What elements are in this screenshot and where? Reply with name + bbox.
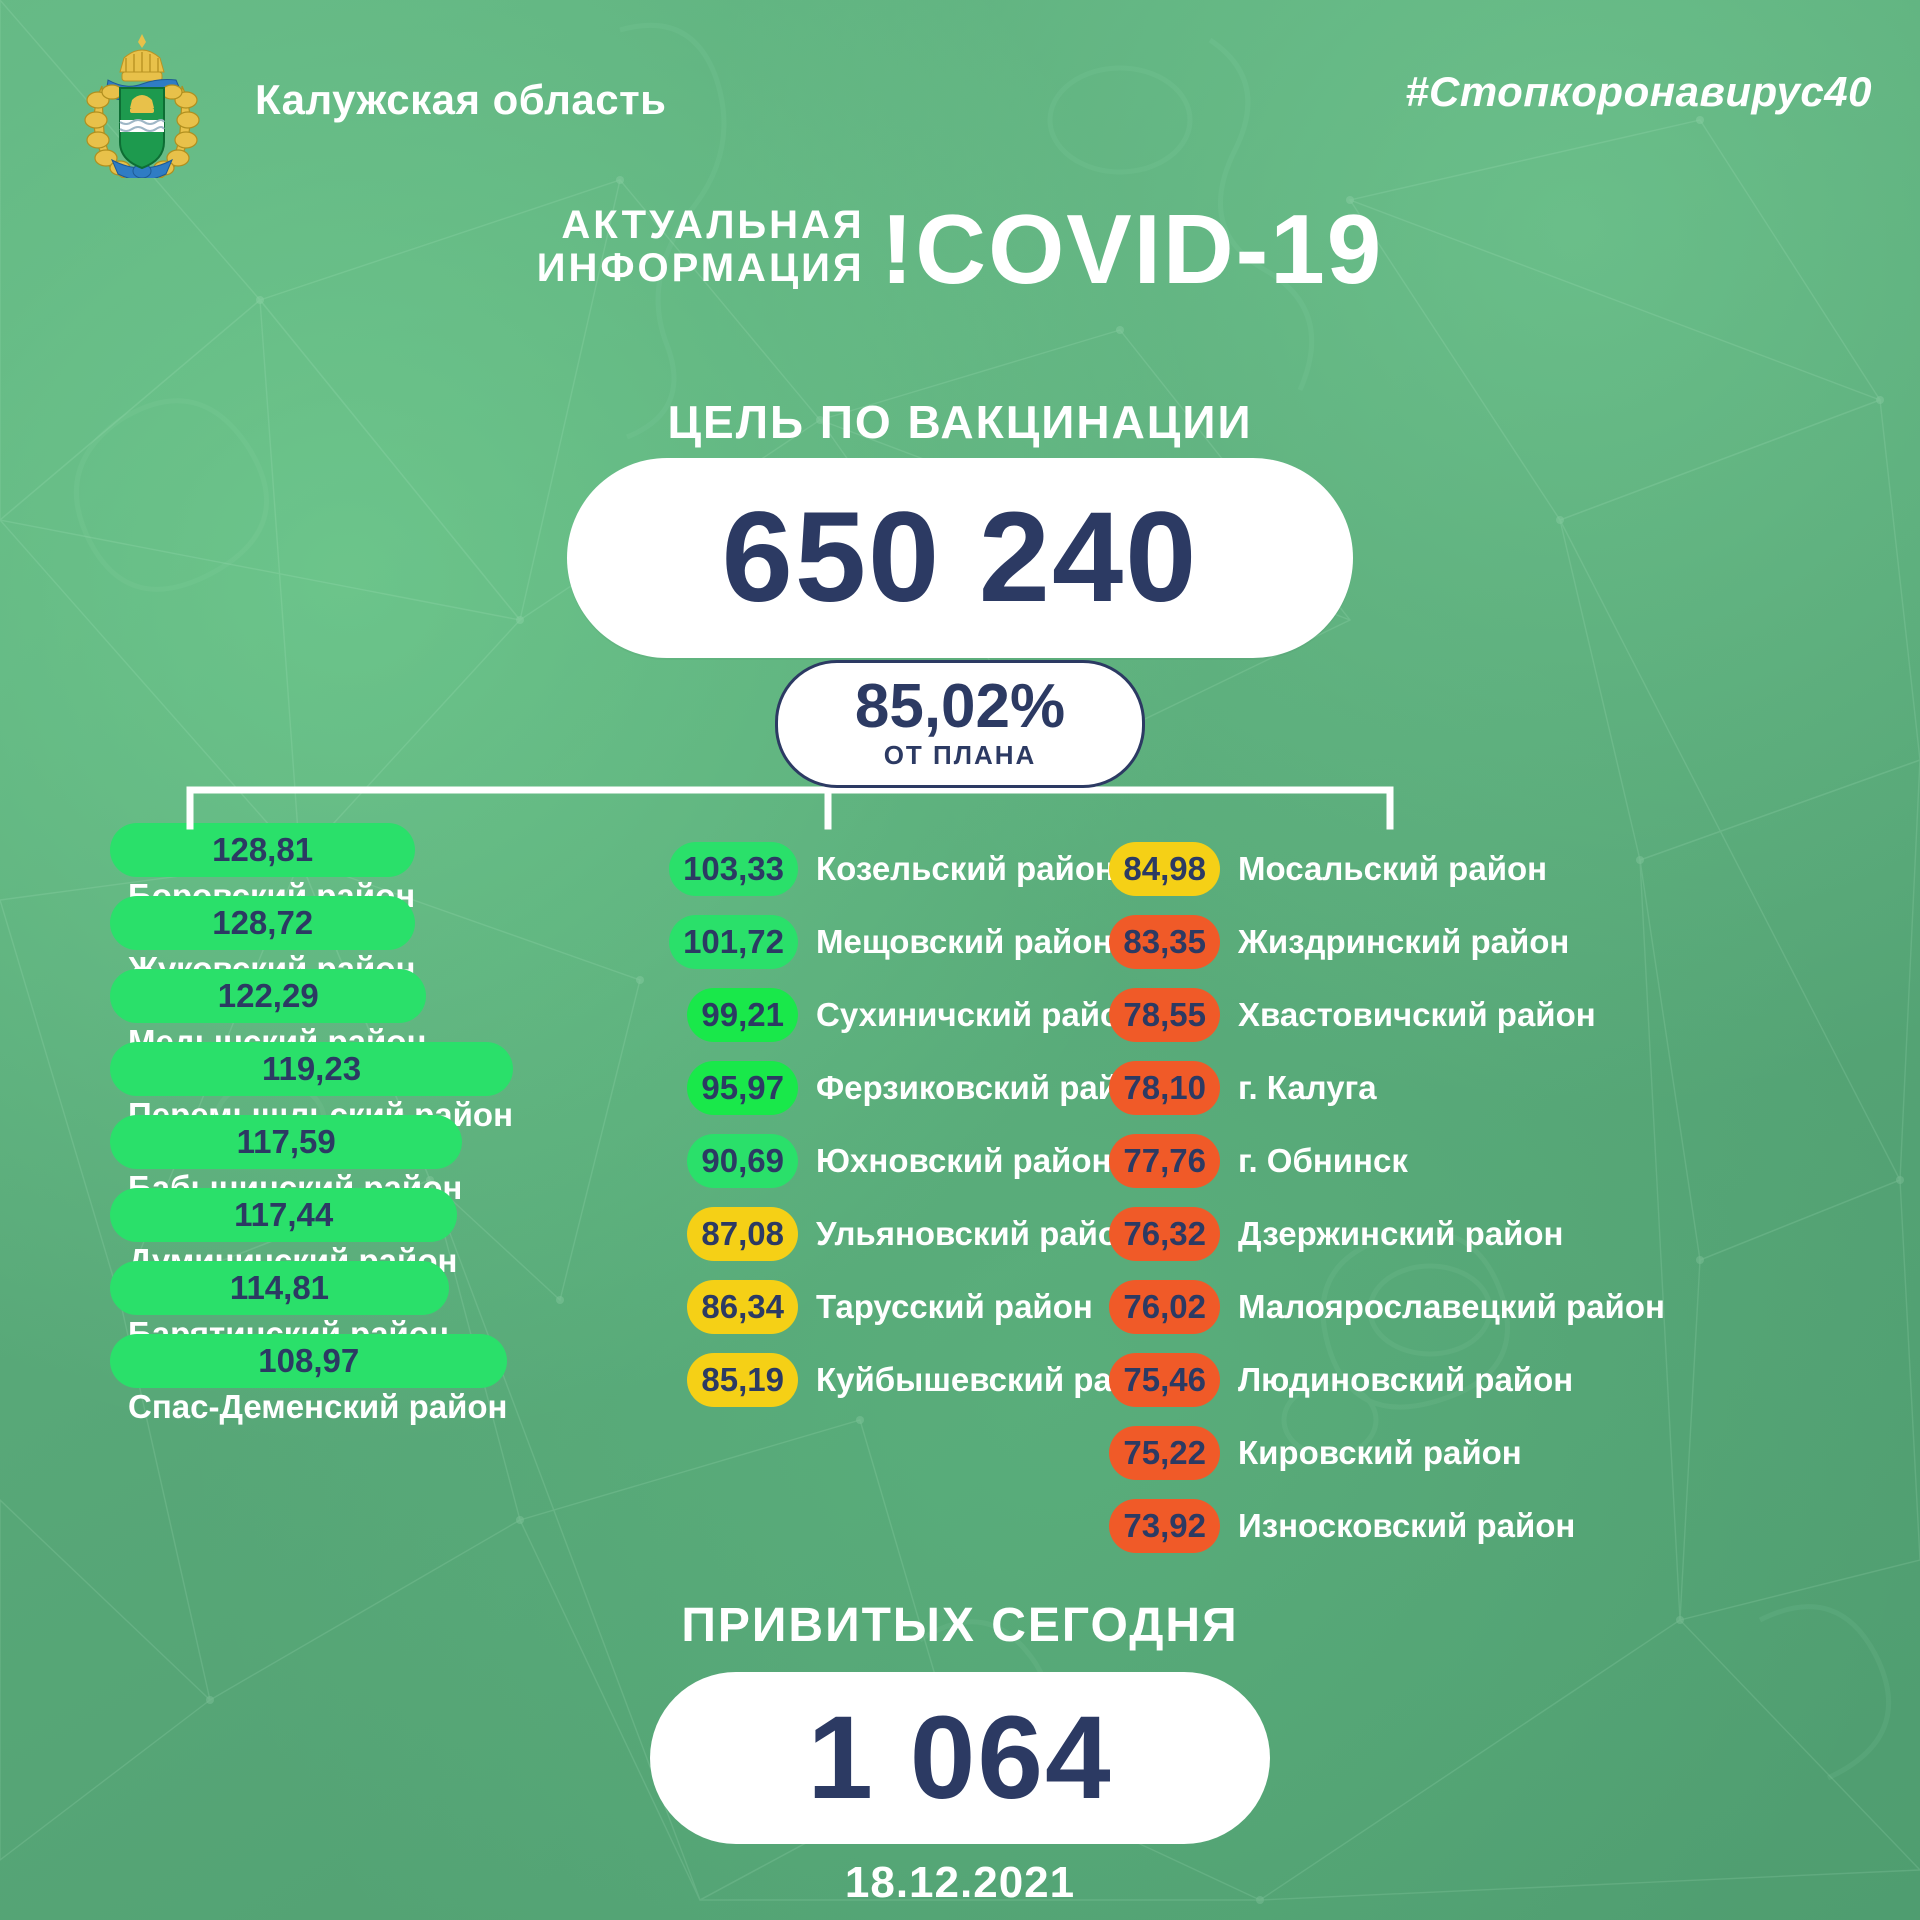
percent-caption: ОТ ПЛАНА bbox=[884, 740, 1037, 771]
district-row: 122,29Медынский район bbox=[110, 981, 670, 1049]
percent-value: 85,02% bbox=[855, 677, 1065, 738]
district-row: 75,22Кировский район bbox=[1080, 1419, 1720, 1487]
district-column-3: 84,98Мосальский район83,35Жиздринский ра… bbox=[1080, 835, 1720, 1565]
district-row-inner: 76,32Дзержинский район bbox=[1080, 1207, 1720, 1261]
district-row: 76,32Дзержинский район bbox=[1080, 1200, 1720, 1268]
district-row-inner: 87,08Ульяновский район bbox=[660, 1207, 1120, 1261]
district-badge-wrap: 76,02 bbox=[1080, 1280, 1220, 1334]
district-row-inner: 108,97Спас-Деменский район bbox=[110, 1334, 507, 1426]
district-name-label: г. Калуга bbox=[1238, 1069, 1377, 1107]
district-badge-wrap: 77,76 bbox=[1080, 1134, 1220, 1188]
district-badge-wrap: 101,72 bbox=[660, 915, 798, 969]
district-row-inner: 84,98Мосальский район bbox=[1080, 842, 1720, 896]
district-badge-wrap: 85,19 bbox=[660, 1353, 798, 1407]
district-name-label: Козельский район bbox=[816, 850, 1115, 888]
district-badge-wrap: 99,21 bbox=[660, 988, 798, 1042]
percent-of-plan-badge: 85,02% ОТ ПЛАНА bbox=[775, 660, 1145, 788]
district-badge-wrap: 95,97 bbox=[660, 1061, 798, 1115]
district-percent-badge: 78,10 bbox=[1109, 1061, 1220, 1115]
district-row: 86,34Тарусский район bbox=[660, 1273, 1120, 1341]
district-percent-badge: 108,97 bbox=[110, 1334, 507, 1388]
districts-columns: 128,81Боровский район128,72Жуковский рай… bbox=[0, 835, 1920, 1595]
district-row-inner: 101,72Мещовский район bbox=[660, 915, 1120, 969]
region-title: Калужская область bbox=[255, 76, 666, 124]
district-percent-badge: 114,81 bbox=[110, 1261, 449, 1315]
district-percent-badge: 87,08 bbox=[687, 1207, 798, 1261]
district-row: 117,59Бабынинский район bbox=[110, 1127, 670, 1195]
district-name-label: Спас-Деменский район bbox=[128, 1388, 507, 1426]
title-subtext: АКТУАЛЬНАЯ ИНФОРМАЦИЯ bbox=[537, 204, 865, 294]
district-percent-badge: 119,23 bbox=[110, 1042, 513, 1096]
district-percent-badge: 76,32 bbox=[1109, 1207, 1220, 1261]
district-name-label: Износковский район bbox=[1238, 1507, 1575, 1545]
district-percent-badge: 90,69 bbox=[687, 1134, 798, 1188]
district-name-label: Мещовский район bbox=[816, 923, 1112, 961]
district-badge-wrap: 73,92 bbox=[1080, 1499, 1220, 1553]
district-row: 73,92Износковский район bbox=[1080, 1492, 1720, 1560]
infographic-poster: Калужская область #Стопкоронавирус40 АКТ… bbox=[0, 0, 1920, 1920]
district-row-inner: 78,55Хвастовичский район bbox=[1080, 988, 1720, 1042]
district-row-inner: 78,10г. Калуга bbox=[1080, 1061, 1720, 1115]
district-row: 78,55Хвастовичский район bbox=[1080, 981, 1720, 1049]
title-line-2: ИНФОРМАЦИЯ bbox=[537, 247, 865, 290]
district-name-label: Юхновский район bbox=[816, 1142, 1111, 1180]
hashtag-label: #Стопкоронавирус40 bbox=[1405, 68, 1872, 116]
district-row-inner: 99,21Сухиничский район bbox=[660, 988, 1120, 1042]
district-percent-badge: 86,34 bbox=[687, 1280, 798, 1334]
district-percent-badge: 99,21 bbox=[687, 988, 798, 1042]
district-badge-wrap: 83,35 bbox=[1080, 915, 1220, 969]
district-percent-badge: 85,19 bbox=[687, 1353, 798, 1407]
goal-value-pill: 650 240 bbox=[567, 458, 1353, 658]
district-row-inner: 76,02Малоярославецкий район bbox=[1080, 1280, 1720, 1334]
district-badge-wrap: 75,46 bbox=[1080, 1353, 1220, 1407]
district-row-inner: 75,46Людиновский район bbox=[1080, 1353, 1720, 1407]
district-percent-badge: 103,33 bbox=[669, 842, 798, 896]
district-row: 78,10г. Калуга bbox=[1080, 1054, 1720, 1122]
title-line-1: АКТУАЛЬНАЯ bbox=[537, 204, 865, 247]
district-name-label: Жиздринский район bbox=[1238, 923, 1569, 961]
district-row: 76,02Малоярославецкий район bbox=[1080, 1273, 1720, 1341]
district-row-inner: 73,92Износковский район bbox=[1080, 1499, 1720, 1553]
district-name-label: Дзержинский район bbox=[1238, 1215, 1564, 1253]
goal-label: ЦЕЛЬ ПО ВАКЦИНАЦИИ bbox=[0, 395, 1920, 449]
district-badge-wrap: 78,10 bbox=[1080, 1061, 1220, 1115]
district-row: 87,08Ульяновский район bbox=[660, 1200, 1120, 1268]
district-row: 83,35Жиздринский район bbox=[1080, 908, 1720, 976]
district-row-inner: 83,35Жиздринский район bbox=[1080, 915, 1720, 969]
district-name-label: Кировский район bbox=[1238, 1434, 1522, 1472]
goal-value: 650 240 bbox=[722, 494, 1199, 622]
district-row-inner: 95,97Ферзиковский район bbox=[660, 1061, 1120, 1115]
district-badge-wrap: 86,34 bbox=[660, 1280, 798, 1334]
district-percent-badge: 78,55 bbox=[1109, 988, 1220, 1042]
district-percent-badge: 84,98 bbox=[1109, 842, 1220, 896]
district-row-inner: 90,69Юхновский район bbox=[660, 1134, 1120, 1188]
district-name-label: Малоярославецкий район bbox=[1238, 1288, 1665, 1326]
district-percent-badge: 101,72 bbox=[669, 915, 798, 969]
district-name-label: Тарусский район bbox=[816, 1288, 1093, 1326]
district-row: 117,44Думиничский район bbox=[110, 1200, 670, 1268]
district-row: 99,21Сухиничский район bbox=[660, 981, 1120, 1049]
district-row-inner: 85,19Куйбышевский район bbox=[660, 1353, 1120, 1407]
district-percent-badge: 83,35 bbox=[1109, 915, 1220, 969]
district-row: 85,19Куйбышевский район bbox=[660, 1346, 1120, 1414]
district-name-label: г. Обнинск bbox=[1238, 1142, 1408, 1180]
district-row-inner: 103,33Козельский район bbox=[660, 842, 1120, 896]
district-row: 128,72Жуковский район bbox=[110, 908, 670, 976]
today-value: 1 064 bbox=[807, 1699, 1112, 1817]
today-value-pill: 1 064 bbox=[650, 1672, 1270, 1844]
district-row: 84,98Мосальский район bbox=[1080, 835, 1720, 903]
district-badge-wrap: 78,55 bbox=[1080, 988, 1220, 1042]
district-badge-wrap: 103,33 bbox=[660, 842, 798, 896]
district-percent-badge: 117,44 bbox=[110, 1188, 457, 1242]
district-name-label: Хвастовичский район bbox=[1238, 996, 1596, 1034]
district-row-inner: 77,76г. Обнинск bbox=[1080, 1134, 1720, 1188]
district-percent-badge: 128,72 bbox=[110, 896, 415, 950]
district-percent-badge: 75,46 bbox=[1109, 1353, 1220, 1407]
title-block: АКТУАЛЬНАЯ ИНФОРМАЦИЯ !COVID-19 bbox=[0, 200, 1920, 340]
report-date: 18.12.2021 bbox=[0, 1858, 1920, 1908]
district-row: 90,69Юхновский район bbox=[660, 1127, 1120, 1195]
district-column-1: 128,81Боровский район128,72Жуковский рай… bbox=[110, 835, 670, 1419]
district-badge-wrap: 76,32 bbox=[1080, 1207, 1220, 1261]
district-name-label: Людиновский район bbox=[1238, 1361, 1573, 1399]
district-row: 119,23Перемышльский район bbox=[110, 1054, 670, 1122]
district-row-inner: 86,34Тарусский район bbox=[660, 1280, 1120, 1334]
district-percent-badge: 117,59 bbox=[110, 1115, 462, 1169]
district-row-inner: 75,22Кировский район bbox=[1080, 1426, 1720, 1480]
district-badge-wrap: 75,22 bbox=[1080, 1426, 1220, 1480]
district-percent-badge: 95,97 bbox=[687, 1061, 798, 1115]
header: Калужская область #Стопкоронавирус40 bbox=[0, 0, 1920, 190]
district-percent-badge: 76,02 bbox=[1109, 1280, 1220, 1334]
district-badge-wrap: 84,98 bbox=[1080, 842, 1220, 896]
district-row: 114,81Барятинский район bbox=[110, 1273, 670, 1341]
today-label: ПРИВИТЫХ СЕГОДНЯ bbox=[0, 1598, 1920, 1653]
kaluga-coat-of-arms-icon bbox=[68, 28, 216, 178]
district-row: 101,72Мещовский район bbox=[660, 908, 1120, 976]
district-percent-badge: 73,92 bbox=[1109, 1499, 1220, 1553]
district-column-2: 103,33Козельский район101,72Мещовский ра… bbox=[660, 835, 1120, 1419]
district-row: 103,33Козельский район bbox=[660, 835, 1120, 903]
district-row: 95,97Ферзиковский район bbox=[660, 1054, 1120, 1122]
district-row: 75,46Людиновский район bbox=[1080, 1346, 1720, 1414]
district-percent-badge: 77,76 bbox=[1109, 1134, 1220, 1188]
district-badge-wrap: 87,08 bbox=[660, 1207, 798, 1261]
district-row: 108,97Спас-Деменский район bbox=[110, 1346, 670, 1414]
district-badge-wrap: 90,69 bbox=[660, 1134, 798, 1188]
district-name-label: Мосальский район bbox=[1238, 850, 1547, 888]
district-percent-badge: 122,29 bbox=[110, 969, 426, 1023]
title-covid: !COVID-19 bbox=[881, 200, 1384, 298]
district-percent-badge: 75,22 bbox=[1109, 1426, 1220, 1480]
district-row: 77,76г. Обнинск bbox=[1080, 1127, 1720, 1195]
district-row: 128,81Боровский район bbox=[110, 835, 670, 903]
